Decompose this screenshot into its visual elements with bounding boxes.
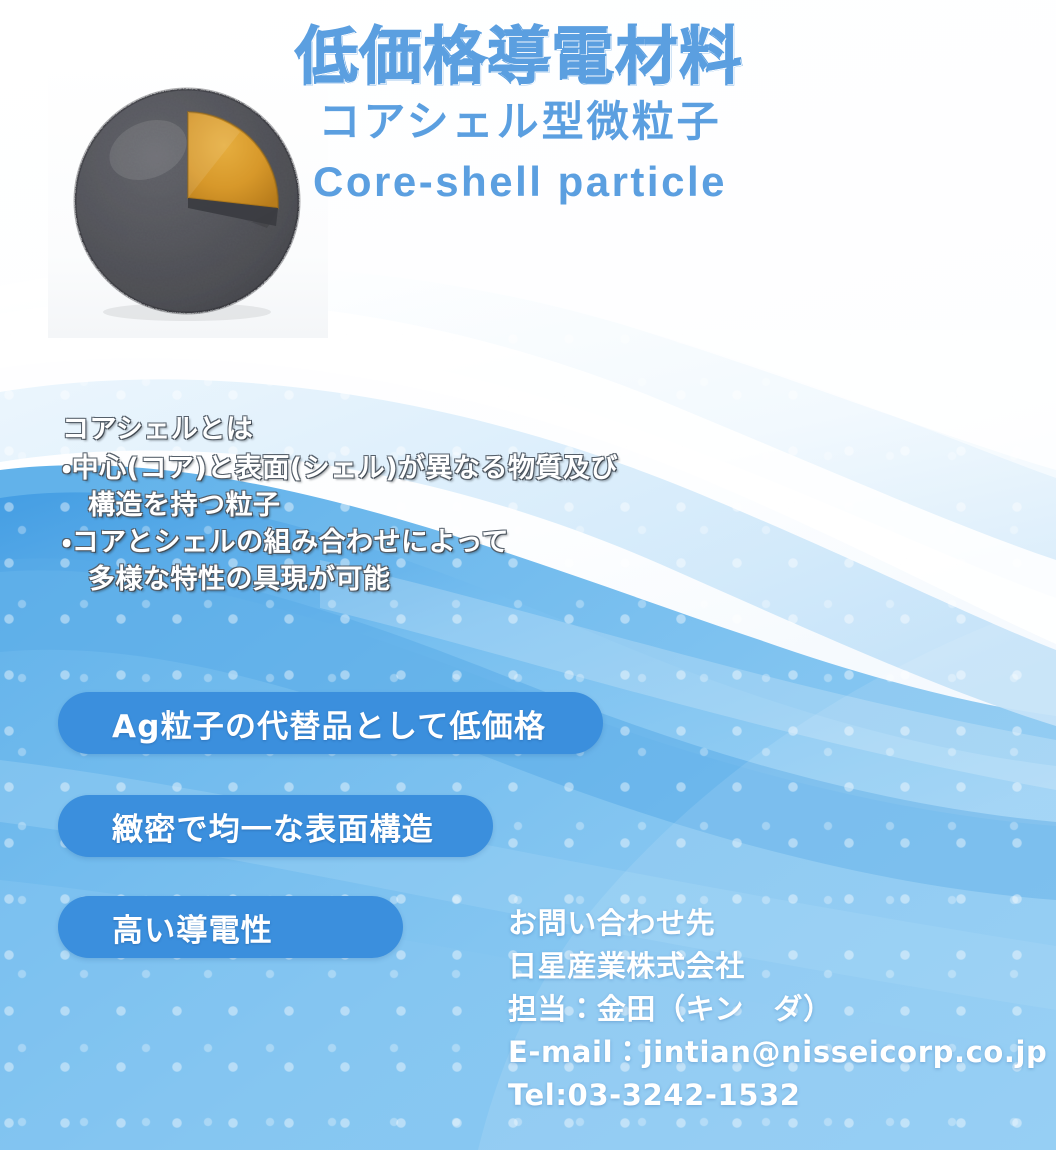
poster-root: 低価格導電材料 コアシェル型微粒子 Core-shell particle コア…	[0, 0, 1056, 1150]
page-title-english: Core-shell particle	[0, 159, 1040, 205]
description-line-4: 多様な特性の具現が可能	[62, 562, 722, 599]
page-title-main: 低価格導電材料	[0, 24, 1040, 90]
feature-pill-label-3: 高い導電性	[58, 905, 319, 950]
title-block: 低価格導電材料 コアシェル型微粒子 Core-shell particle	[0, 24, 1040, 205]
contact-heading: お問い合わせ先	[508, 902, 1048, 945]
contact-person: 担当：金田（キン ダ）	[508, 988, 1048, 1031]
feature-pill-conductivity: 高い導電性	[58, 896, 403, 958]
feature-pill-label-1: Ag粒子の代替品として低価格	[58, 701, 592, 746]
description-line-1: ・中心(コア)と表面(シェル)が異なる物質及び	[62, 451, 722, 488]
feature-pill-label-2: 緻密で均一な表面構造	[58, 804, 480, 849]
description-heading: コアシェルとは	[62, 412, 722, 449]
contact-email: E-mail：jintian@nisseicorp.co.jp	[508, 1031, 1048, 1074]
description-line-2: 構造を持つ粒子	[62, 488, 722, 525]
contact-block: お問い合わせ先 日星産業株式会社 担当：金田（キン ダ） E-mail：jint…	[508, 902, 1048, 1117]
contact-company: 日星産業株式会社	[508, 945, 1048, 988]
contact-tel: Tel:03-3242-1532	[508, 1074, 1048, 1117]
description-line-3: ・コアとシェルの組み合わせによって	[62, 525, 722, 562]
page-title-sub: コアシェル型微粒子	[0, 98, 1040, 145]
description-block: コアシェルとは ・中心(コア)と表面(シェル)が異なる物質及び 構造を持つ粒子 …	[62, 412, 722, 599]
feature-pill-surface: 緻密で均一な表面構造	[58, 795, 493, 857]
feature-pill-price: Ag粒子の代替品として低価格	[58, 692, 603, 754]
